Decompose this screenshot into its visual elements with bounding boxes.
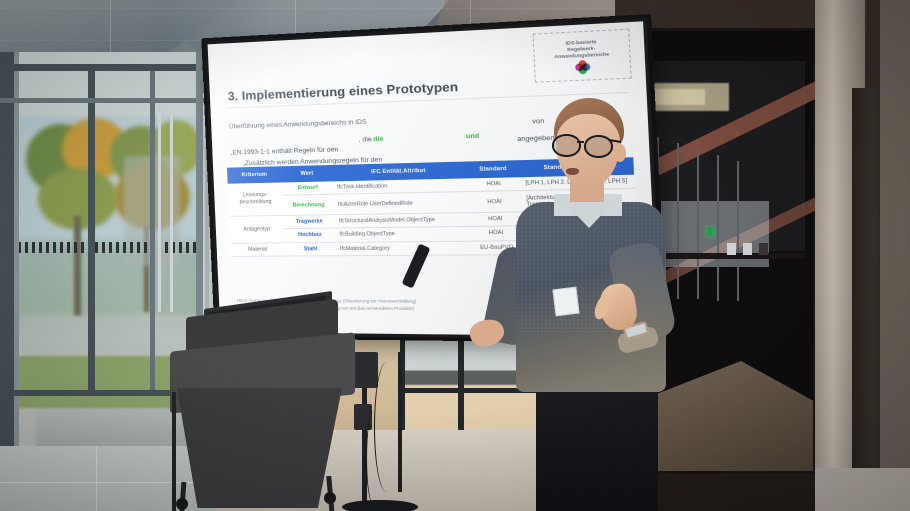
cell-wert: Stahl [284,242,337,256]
logo-line-3: Anwendungsbereiche [554,51,609,60]
cell-ifc: IfcActorRole.UserDefinedRole [334,192,466,214]
presenter-trousers [536,386,658,511]
cell-kriterium: Material [231,242,285,256]
right-wall-edge [880,0,910,511]
th-wert: Wert [281,165,334,182]
foreground-chair [176,300,376,511]
th-kriterium: Kriterium [227,167,281,183]
cell-kriterium: Anlagentyp [230,215,284,243]
logo-mark-icon [574,60,590,75]
project-logo: IDS-basierte Regelwerk- Anwendungsbereic… [532,29,631,83]
photo-scene: IDS-basierte Regelwerk- Anwendungsbereic… [0,0,910,511]
cell-ifc: IfcStructuralAnalysisModel.ObjectType [335,212,467,228]
slide-subline: Überführung eines Anwendungsbereichs in … [229,119,367,131]
cell-ifc: IfcBuilding.ObjectType [336,227,468,242]
cell-wert: Hochbau [283,228,336,242]
cell-wert: Tragwerke [283,214,336,228]
glasses-icon [552,134,618,154]
cell-wert: Entwurf [281,181,334,196]
cell-ifc: IfcMaterial.Category [337,241,469,256]
name-badge [552,287,579,317]
cell-wert: Berechnung [282,195,335,216]
presenter [492,98,722,511]
floor-right [815,468,910,511]
